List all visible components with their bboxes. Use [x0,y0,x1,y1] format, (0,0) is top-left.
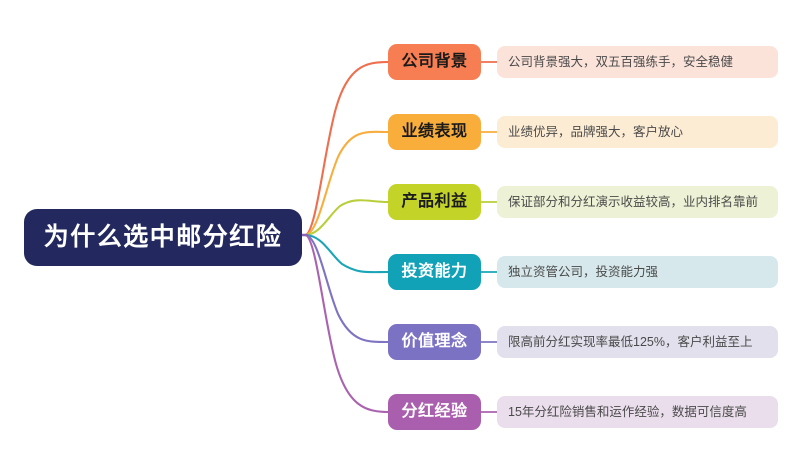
branch-row-1: 公司背景 公司背景强大，双五百强练手，安全稳健 [388,44,780,80]
central-node[interactable]: 为什么选中邮分红险 [24,209,302,266]
branch-chip-4[interactable]: 投资能力 [388,254,481,290]
branch-description-text-2: 业绩优异，品牌强大，客户放心 [508,125,683,140]
branch-description-text-5: 限高前分红实现率最低125%，客户利益至上 [508,335,752,350]
branch-chip-label-2: 业绩表现 [401,124,467,140]
branch-description-4[interactable]: 独立资管公司，投资能力强 [497,256,778,288]
branch-chip-label-5: 价值理念 [401,334,467,350]
branch-description-6[interactable]: 15年分红险销售和运作经验，数据可信度高 [497,396,778,428]
branch-description-text-4: 独立资管公司，投资能力强 [508,265,658,280]
branch-chip-6[interactable]: 分红经验 [388,394,481,430]
connector-curve-5 [305,235,388,342]
branch-chip-label-1: 公司背景 [401,54,467,70]
branch-chip-label-3: 产品利益 [401,194,467,210]
branch-row-3: 产品利益 保证部分和分红演示收益较高，业内排名靠前 [388,184,780,220]
branch-description-1[interactable]: 公司背景强大，双五百强练手，安全稳健 [497,46,778,78]
branch-chip-3[interactable]: 产品利益 [388,184,481,220]
connector-curve-2 [305,132,388,235]
connector-curve-6 [305,235,388,412]
branch-chip-5[interactable]: 价值理念 [388,324,481,360]
branch-row-6: 分红经验 15年分红险销售和运作经验，数据可信度高 [388,394,780,430]
branch-chip-1[interactable]: 公司背景 [388,44,481,80]
branch-description-text-3: 保证部分和分红演示收益较高，业内排名靠前 [508,195,758,210]
central-node-label: 为什么选中邮分红险 [44,225,283,250]
branch-row-2: 业绩表现 业绩优异，品牌强大，客户放心 [388,114,780,150]
branch-description-3[interactable]: 保证部分和分红演示收益较高，业内排名靠前 [497,186,778,218]
connector-curve-4 [305,235,388,272]
branch-chip-label-4: 投资能力 [401,264,467,280]
branch-description-5[interactable]: 限高前分红实现率最低125%，客户利益至上 [497,326,778,358]
mind-map-canvas: 为什么选中邮分红险 公司背景 公司背景强大，双五百强练手，安全稳健 业绩表现 业… [0,0,800,453]
connector-curve-1 [305,62,388,235]
branch-chip-label-6: 分红经验 [401,404,467,420]
branch-row-5: 价值理念 限高前分红实现率最低125%，客户利益至上 [388,324,780,360]
branch-row-4: 投资能力 独立资管公司，投资能力强 [388,254,780,290]
branch-chip-2[interactable]: 业绩表现 [388,114,481,150]
branch-description-text-6: 15年分红险销售和运作经验，数据可信度高 [508,405,747,420]
connector-curve-3 [305,200,388,235]
branch-description-text-1: 公司背景强大，双五百强练手，安全稳健 [508,55,733,70]
branch-description-2[interactable]: 业绩优异，品牌强大，客户放心 [497,116,778,148]
